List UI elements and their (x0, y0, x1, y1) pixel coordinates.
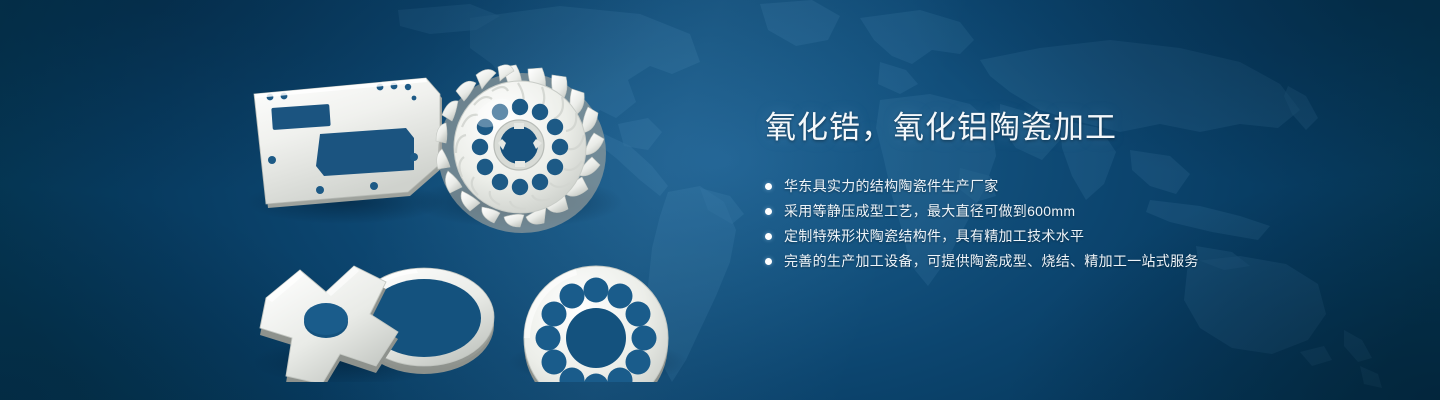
list-item: 采用等静压成型工艺，最大直径可做到600mm (765, 200, 1385, 223)
list-item-label: 采用等静压成型工艺，最大直径可做到600mm (784, 200, 1075, 223)
list-item: 华东具实力的结构陶瓷件生产厂家 (765, 175, 1385, 198)
ceramic-products-image (228, 42, 708, 382)
page-title: 氧化锆，氧化铝陶瓷加工 (765, 108, 1385, 148)
bullet-dot-icon (765, 233, 772, 240)
list-item-label: 定制特殊形状陶瓷结构件，具有精加工技术水平 (784, 225, 1084, 248)
list-item: 定制特殊形状陶瓷结构件，具有精加工技术水平 (765, 225, 1385, 248)
bullet-dot-icon (765, 208, 772, 215)
list-item-label: 华东具实力的结构陶瓷件生产厂家 (784, 175, 999, 198)
promo-banner: 氧化锆，氧化铝陶瓷加工 华东具实力的结构陶瓷件生产厂家 采用等静压成型工艺，最大… (0, 0, 1440, 400)
ceramic-perforated-disc (524, 266, 668, 382)
ceramic-mounting-plate (254, 78, 442, 208)
banner-copy: 氧化锆，氧化铝陶瓷加工 华东具实力的结构陶瓷件生产厂家 采用等静压成型工艺，最大… (765, 108, 1385, 275)
list-item: 完善的生产加工设备，可提供陶瓷成型、烧结、精加工一站式服务 (765, 250, 1385, 273)
bullet-dot-icon (765, 258, 772, 265)
list-item-label: 完善的生产加工设备，可提供陶瓷成型、烧结、精加工一站式服务 (784, 250, 1199, 273)
feature-list: 华东具实力的结构陶瓷件生产厂家 采用等静压成型工艺，最大直径可做到600mm 定… (765, 175, 1385, 273)
bullet-dot-icon (765, 183, 772, 190)
ceramic-impeller-disc (436, 65, 606, 233)
